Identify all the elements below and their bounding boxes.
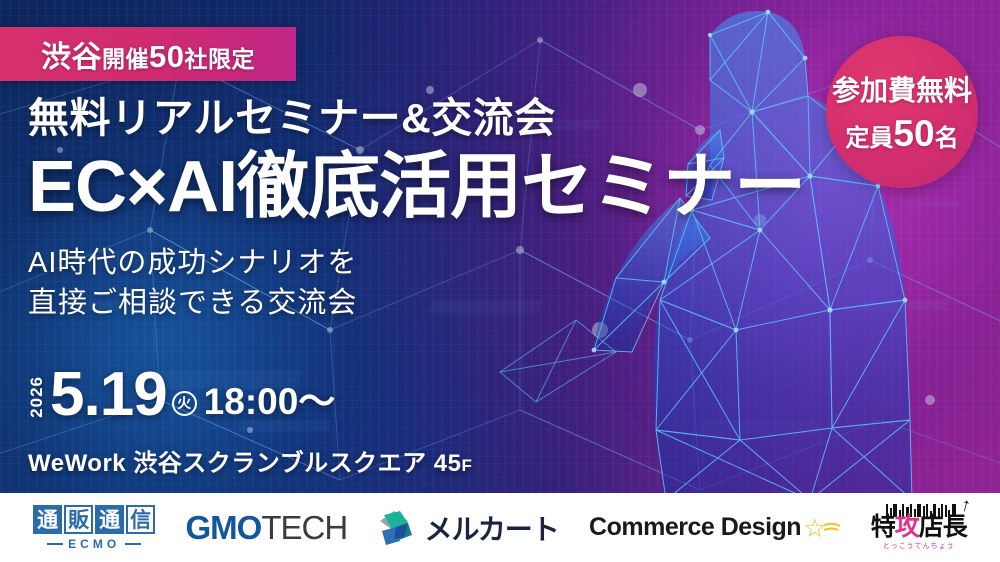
subheadline-line-1: AI時代の成功シナリオを <box>28 243 728 283</box>
tech-text: TECH <box>261 509 347 547</box>
subheadline-line-2: 直接ご相談できる交流会 <box>28 283 728 323</box>
tokkou-ruby-text: とっこうてんちょう <box>883 541 955 551</box>
badge-capacity-label: 定員 <box>845 125 893 152</box>
ecmo-cell-1: 通 <box>33 505 62 534</box>
event-time: 18:00〜 <box>204 383 336 420</box>
ribbon-place: 渋谷 <box>41 41 102 74</box>
badge-line-1: 参加費無料 <box>832 69 972 109</box>
ribbon-mid2: 社限定 <box>184 46 255 72</box>
event-day-of-week-badge: 火 <box>172 391 197 416</box>
badge-capacity-number: 50 <box>893 113 934 154</box>
arrow-up-icon: ↑ <box>959 494 974 518</box>
event-date: 5.19 <box>50 368 167 423</box>
seminar-banner: 渋谷開催50社限定 参加費無料 定員50名 無料リアルセミナー&交流会 EC×A… <box>0 0 1000 562</box>
logo-mercart: メルカート <box>378 508 559 548</box>
ecmo-text: ECMO <box>68 537 120 551</box>
badge-capacity-unit: 名 <box>935 125 959 152</box>
tokkou-char-2: 攻 <box>895 513 919 541</box>
swoosh-icon <box>824 521 840 535</box>
tokkou-char-3: 店長 <box>919 513 967 541</box>
ribbon-mid1: 開催 <box>102 46 149 72</box>
ecmo-cell-3: 通 <box>95 505 124 534</box>
tokkou-char-1: 特 <box>871 513 895 541</box>
venue-name: WeWork 渋谷スクランブルスクエア 45 <box>28 450 461 477</box>
kicker-text: 無料リアルセミナー&交流会 <box>28 98 728 139</box>
main-headline: EC×AI徹底活用セミナー <box>28 151 728 223</box>
subheadline-block: AI時代の成功シナリオを 直接ご相談できる交流会 <box>28 243 728 323</box>
badge-line-2: 定員50名 <box>845 113 958 155</box>
star-icon: ☆ <box>803 515 826 541</box>
ribbon-text: 渋谷開催50社限定 <box>41 32 255 76</box>
venue-floor: F <box>461 456 472 475</box>
mercart-text: メルカート <box>425 508 559 548</box>
eyebrow-ribbon: 渋谷開催50社限定 <box>0 27 296 81</box>
ecmo-cell-4: 信 <box>126 505 155 534</box>
ecmo-rule-left <box>47 543 63 545</box>
ecmo-kanji-cells: 通 販 通 信 <box>33 505 155 534</box>
free-admission-badge: 参加費無料 定員50名 <box>826 36 978 188</box>
ecmo-cell-2: 販 <box>64 505 93 534</box>
event-year: 2026 <box>28 376 45 418</box>
event-datetime: 2026 5.19 火 18:00〜 <box>28 368 335 423</box>
commerce-design-text: Commerce Design <box>589 513 801 542</box>
mercart-mark-icon <box>378 509 416 547</box>
ribbon-count: 50 <box>149 39 184 74</box>
tokkou-name: 特攻店長 <box>871 515 967 540</box>
logo-tokkou-tencho: 特攻店長 とっこうてんちょう ↑ <box>871 504 967 551</box>
logo-tsuhan-tsushin-ecmo: 通 販 通 信 ECMO <box>33 505 155 551</box>
ecmo-rule-right <box>125 543 141 545</box>
logo-gmo-tech: GMOTECH <box>186 509 348 547</box>
logo-commerce-design: Commerce Design ☆ <box>589 513 840 542</box>
headline-block: 無料リアルセミナー&交流会 EC×AI徹底活用セミナー AI時代の成功シナリオを… <box>28 98 728 323</box>
sponsor-logo-bar: 通 販 通 信 ECMO GMOTECH <box>0 493 1000 562</box>
gmo-text: GMO <box>186 509 262 547</box>
event-venue: WeWork 渋谷スクランブルスクエア 45F <box>28 443 472 478</box>
ecmo-wordmark: ECMO <box>47 537 141 551</box>
